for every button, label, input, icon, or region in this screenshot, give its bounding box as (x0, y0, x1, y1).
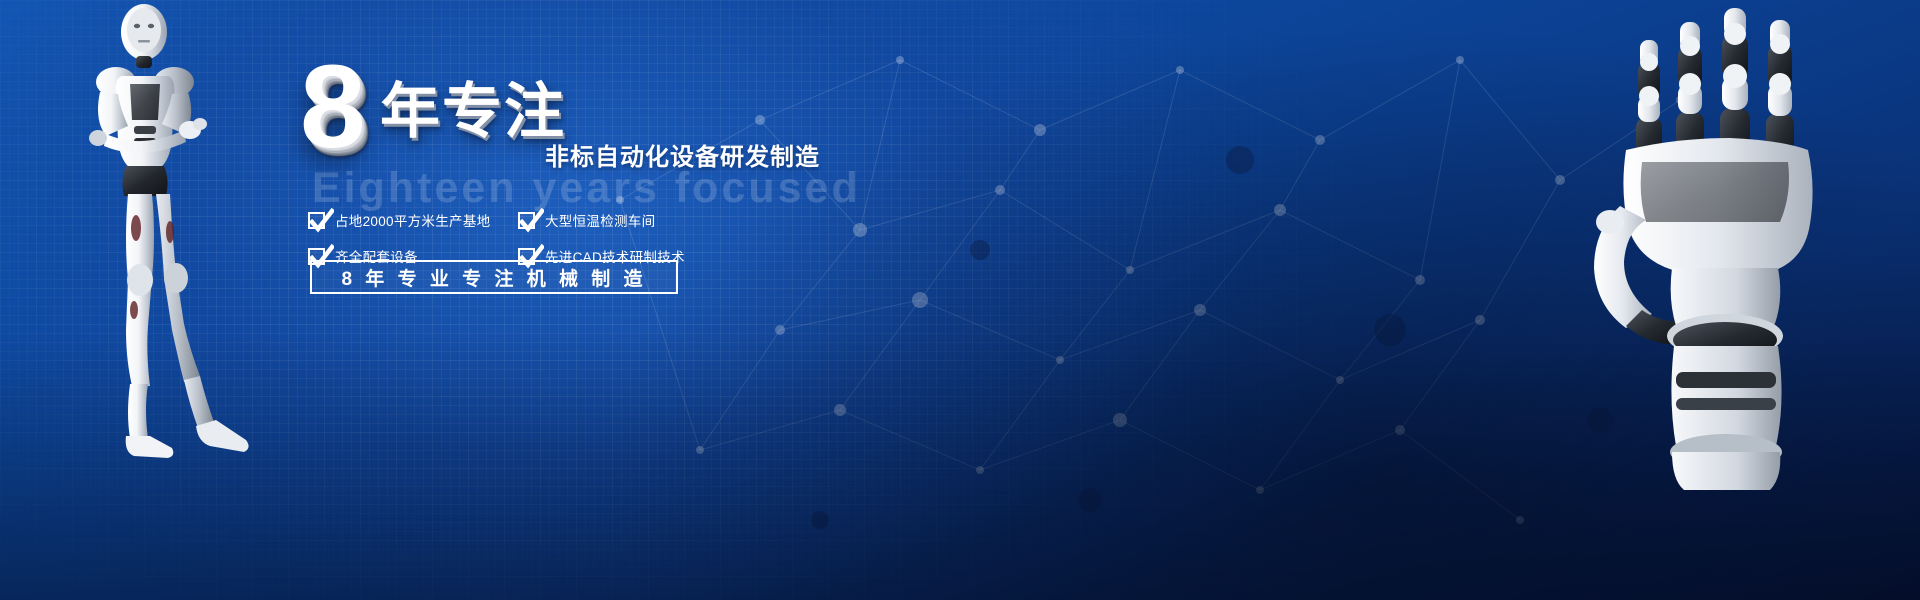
ghost-english-title: Eighteen years focused (312, 164, 861, 213)
cta-button[interactable]: 8 年 专 业 专 注 机 械 制 造 (310, 260, 678, 294)
page-title: 年专注 (380, 82, 566, 142)
feature-item: 占地2000平方米生产基地 (308, 210, 518, 230)
cta-label: 8 年 专 业 专 注 机 械 制 造 (341, 264, 646, 291)
feature-label: 大型恒温检测车间 (545, 210, 655, 230)
feature-row: 占地2000平方米生产基地 大型恒温检测车间 (308, 210, 728, 230)
years-number: 8 (300, 48, 364, 166)
promo-banner: 8 年专注 非标自动化设备研发制造 Eighteen years focused… (0, 0, 1920, 600)
headline-group: 8 年专注 非标自动化设备研发制造 (300, 60, 1000, 155)
check-icon (308, 212, 325, 229)
humanoid-robot-figure (72, 0, 262, 490)
check-icon (518, 212, 535, 229)
robotic-hand-figure (1580, 0, 1880, 490)
feature-label: 占地2000平方米生产基地 (335, 210, 490, 230)
feature-item: 大型恒温检测车间 (518, 210, 728, 230)
banner-content: 8 年专注 非标自动化设备研发制造 Eighteen years focused… (300, 60, 1000, 155)
